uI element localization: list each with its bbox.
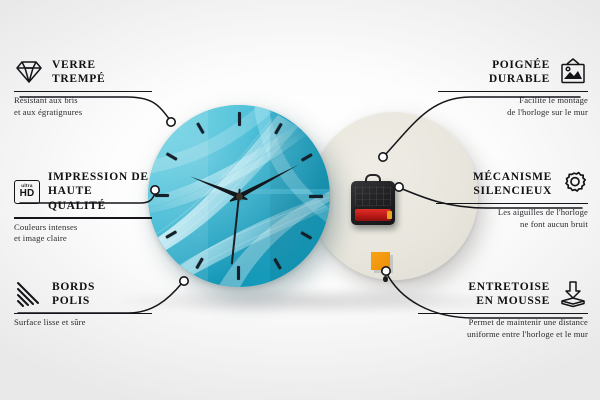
infographic-canvas: VERRE TREMPÉ Résistant aux bris et aux é… <box>0 0 600 400</box>
screw-dot <box>383 276 388 282</box>
callout-rule <box>438 91 588 92</box>
callout-description: Permet de maintenir une distance uniform… <box>418 317 588 340</box>
callout-description: Les aiguilles de l'horloge ne font aucun… <box>436 207 588 230</box>
clock-front-face <box>148 105 330 287</box>
clock-tick-3 <box>239 195 330 197</box>
picture-hanger-icon <box>558 58 588 86</box>
clock-tick-12 <box>238 105 240 196</box>
callout-title: BORDS POLIS <box>52 280 95 309</box>
callout-title: IMPRESSION DE HAUTE QUALITÉ <box>48 170 152 213</box>
callout-rule <box>436 203 588 204</box>
callout-description: Facilite le montage de l'horloge sur le … <box>438 95 588 118</box>
callout-rule <box>14 313 152 314</box>
foam-spacer <box>371 252 390 270</box>
callout-impression-haute-qualite[interactable]: ultra HD IMPRESSION DE HAUTE QUALITÉ Cou… <box>14 170 152 245</box>
clock-movement-box <box>351 181 395 225</box>
callout-title: POIGNÉE DURABLE <box>489 58 550 87</box>
callout-title: VERRE TREMPÉ <box>52 58 105 87</box>
callout-rule <box>14 217 152 218</box>
callout-header: POIGNÉE DURABLE <box>438 58 588 87</box>
callout-description: Surface lisse et sûre <box>14 317 152 329</box>
callout-bords-polis[interactable]: BORDS POLIS Surface lisse et sûre <box>14 280 152 329</box>
callout-description: Couleurs intenses et image claire <box>14 222 152 245</box>
callout-title: MÉCANISME SILENCIEUX <box>473 170 552 199</box>
movement-texture <box>355 186 391 206</box>
callout-header: BORDS POLIS <box>14 280 152 309</box>
callout-header: ultra HD IMPRESSION DE HAUTE QUALITÉ <box>14 170 152 213</box>
ultra-hd-badge-icon: ultra HD <box>14 180 40 204</box>
callout-verre-trempe[interactable]: VERRE TREMPÉ Résistant aux bris et aux é… <box>14 58 152 118</box>
diagonal-lines-icon <box>14 281 44 307</box>
battery-icon <box>355 209 391 221</box>
callout-header: MÉCANISME SILENCIEUX <box>436 170 588 199</box>
gear-icon <box>560 170 588 198</box>
callout-rule <box>418 313 588 314</box>
callout-poignee-durable[interactable]: POIGNÉE DURABLE Facilite le montage de l… <box>438 58 588 118</box>
callout-header: ENTRETOISE EN MOUSSE <box>418 280 588 309</box>
callout-description: Résistant aux bris et aux égratignures <box>14 95 152 118</box>
clock-tick-9 <box>148 195 239 197</box>
badge-bottom-text: HD <box>20 189 35 199</box>
callout-title: ENTRETOISE EN MOUSSE <box>468 280 550 309</box>
down-arrow-pad-icon <box>558 280 588 308</box>
callout-rule <box>14 91 152 92</box>
callout-entretoise-en-mousse[interactable]: ENTRETOISE EN MOUSSE Permet de maintenir… <box>418 280 588 340</box>
diamond-icon <box>14 59 44 85</box>
clock-center-hub <box>236 193 243 200</box>
movement-hanger-lug <box>365 174 381 183</box>
callout-mecanisme-silencieux[interactable]: MÉCANISME SILENCIEUX Les aiguilles de l'… <box>436 170 588 230</box>
callout-header: VERRE TREMPÉ <box>14 58 152 87</box>
